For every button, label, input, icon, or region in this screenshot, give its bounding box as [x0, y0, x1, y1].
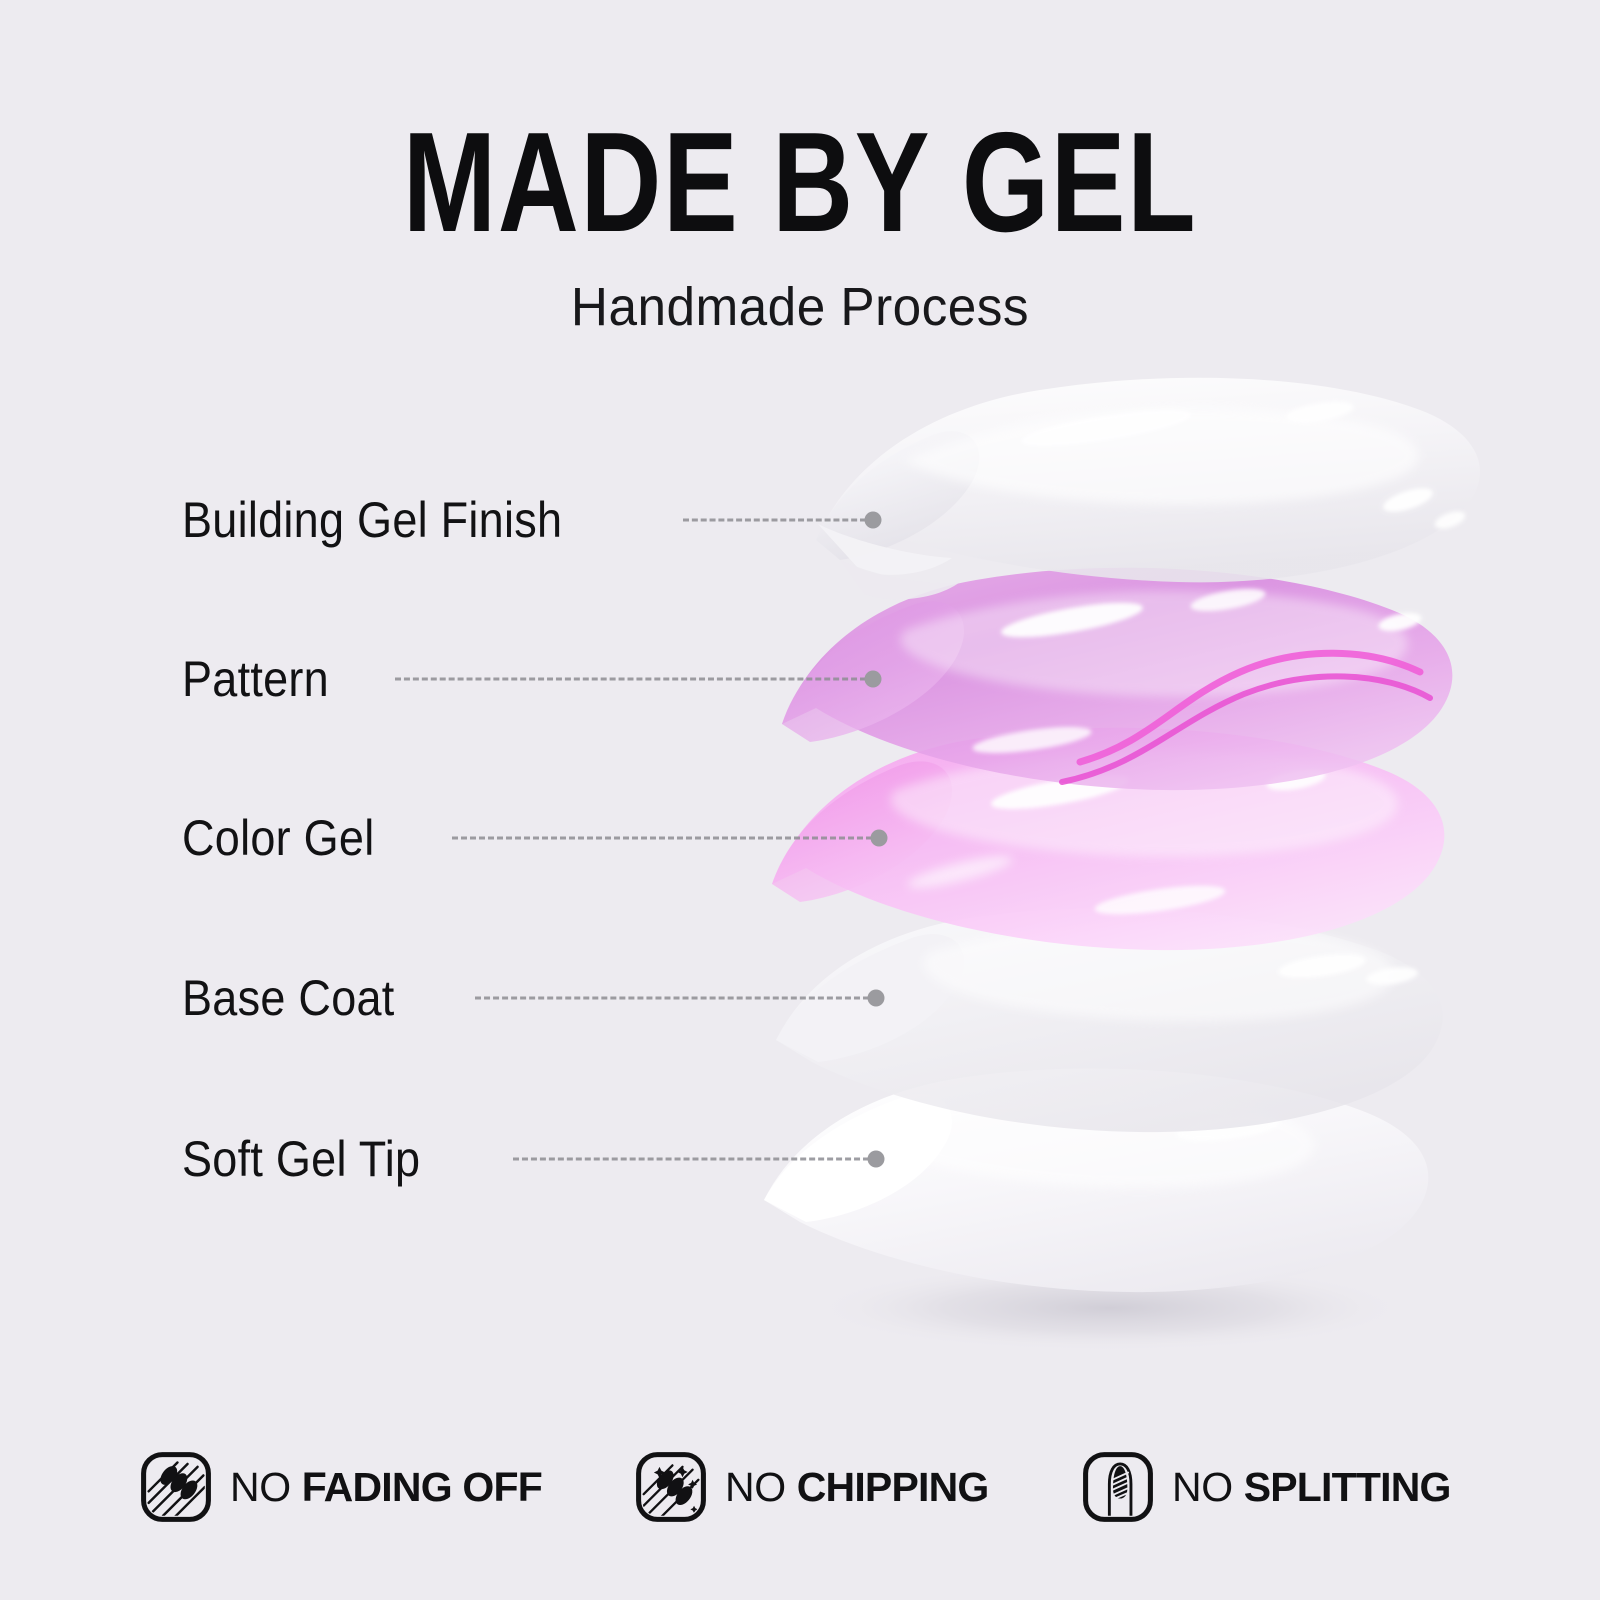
leader-line-color-gel	[452, 837, 872, 840]
leader-line-building-gel-finish	[683, 519, 866, 522]
leader-dot-building-gel-finish	[865, 512, 882, 529]
layer-label-building-gel-finish: Building Gel Finish	[182, 491, 562, 549]
feature-no-fading-off: NO FADING OFF	[140, 1432, 542, 1542]
feature-badge-row: NO FADING OFF	[0, 1432, 1600, 1542]
leader-dot-pattern	[865, 671, 882, 688]
leader-line-soft-gel-tip	[513, 1158, 869, 1161]
building-gel-finish-layer	[816, 378, 1480, 600]
feature-bold-words-2: SPLITTING	[1244, 1464, 1451, 1510]
header: MADE BY GEL Handmade Process	[0, 112, 1600, 338]
feature-no-chipping: NO CHIPPING	[635, 1432, 989, 1542]
leader-line-base-coat	[475, 997, 869, 1000]
layer-label-base-coat: Base Coat	[182, 969, 395, 1027]
nails-stripes-icon	[140, 1451, 212, 1523]
leader-line-pattern	[395, 678, 866, 681]
feature-light-word-0: NO	[230, 1464, 291, 1510]
leader-dot-soft-gel-tip	[868, 1151, 885, 1168]
layer-label-color-gel: Color Gel	[182, 809, 375, 867]
stack-shadow	[810, 1264, 1410, 1352]
feature-bold-words-0: FADING OFF	[302, 1464, 542, 1510]
page-title: MADE BY GEL	[168, 112, 1432, 254]
leader-dot-base-coat	[868, 990, 885, 1007]
feature-label-no-fading-off: NO FADING OFF	[230, 1464, 542, 1511]
feature-label-no-splitting: NO SPLITTING	[1172, 1464, 1451, 1511]
feature-light-word-1: NO	[725, 1464, 786, 1510]
nails-sparkle-icon	[635, 1451, 707, 1523]
feature-no-splitting: NO SPLITTING	[1082, 1432, 1451, 1542]
pattern-layer	[782, 568, 1452, 790]
soft-gel-tip-layer	[764, 1068, 1428, 1292]
feature-label-no-chipping: NO CHIPPING	[725, 1464, 989, 1511]
feature-light-word-2: NO	[1172, 1464, 1233, 1510]
page-subtitle: Handmade Process	[40, 276, 1560, 338]
feature-bold-words-1: CHIPPING	[797, 1464, 989, 1510]
base-coat-layer	[776, 908, 1443, 1132]
leader-dot-color-gel	[871, 830, 888, 847]
infographic-canvas: MADE BY GEL Handmade Process Building Ge…	[0, 0, 1600, 1600]
layer-label-pattern: Pattern	[182, 650, 329, 708]
finger-nail-icon	[1082, 1451, 1154, 1523]
layer-label-soft-gel-tip: Soft Gel Tip	[182, 1130, 420, 1188]
